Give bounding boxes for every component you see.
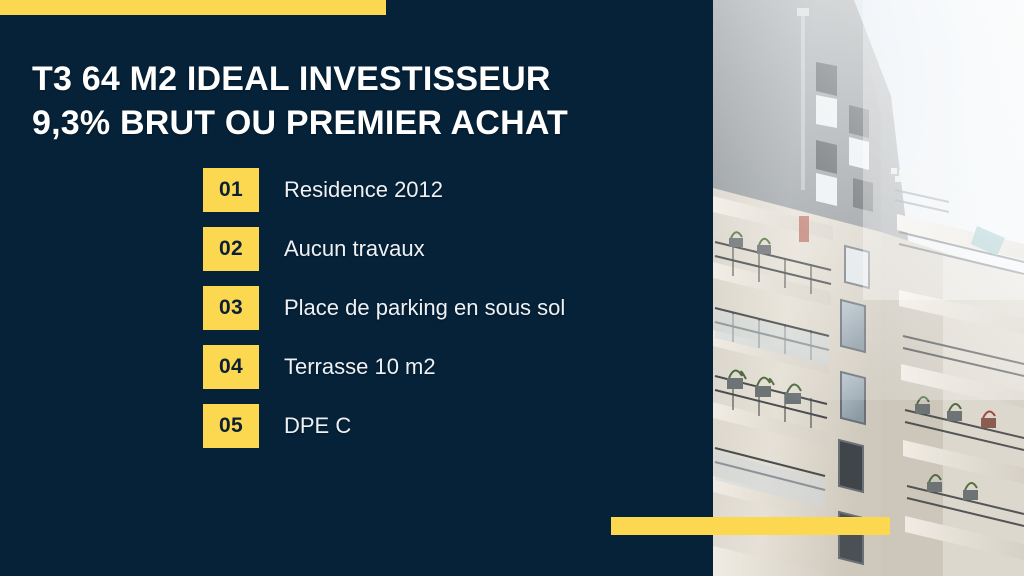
title-line-1: T3 64 M2 IDEAL INVESTISSEUR (32, 57, 652, 101)
accent-bar-bottom (611, 517, 890, 535)
list-item: 03 Place de parking en sous sol (203, 286, 565, 330)
accent-bar-top (0, 0, 386, 15)
feature-number-badge: 03 (203, 286, 259, 330)
feature-number-badge: 04 (203, 345, 259, 389)
building-photo (713, 0, 1024, 576)
feature-label: Aucun travaux (284, 236, 425, 262)
list-item: 04 Terrasse 10 m2 (203, 345, 565, 389)
feature-number-badge: 02 (203, 227, 259, 271)
list-item: 01 Residence 2012 (203, 168, 565, 212)
list-item: 02 Aucun travaux (203, 227, 565, 271)
building-photo-illustration (713, 0, 1024, 576)
feature-number-badge: 01 (203, 168, 259, 212)
feature-label: DPE C (284, 413, 351, 439)
feature-label: Residence 2012 (284, 177, 443, 203)
feature-label: Place de parking en sous sol (284, 295, 565, 321)
feature-label: Terrasse 10 m2 (284, 354, 436, 380)
title-line-2: 9,3% BRUT OU PREMIER ACHAT (32, 101, 652, 145)
real-estate-listing-slide: T3 64 M2 IDEAL INVESTISSEUR 9,3% BRUT OU… (0, 0, 1024, 576)
feature-list: 01 Residence 2012 02 Aucun travaux 03 Pl… (203, 168, 565, 448)
page-title: T3 64 M2 IDEAL INVESTISSEUR 9,3% BRUT OU… (32, 57, 652, 145)
list-item: 05 DPE C (203, 404, 565, 448)
feature-number-badge: 05 (203, 404, 259, 448)
